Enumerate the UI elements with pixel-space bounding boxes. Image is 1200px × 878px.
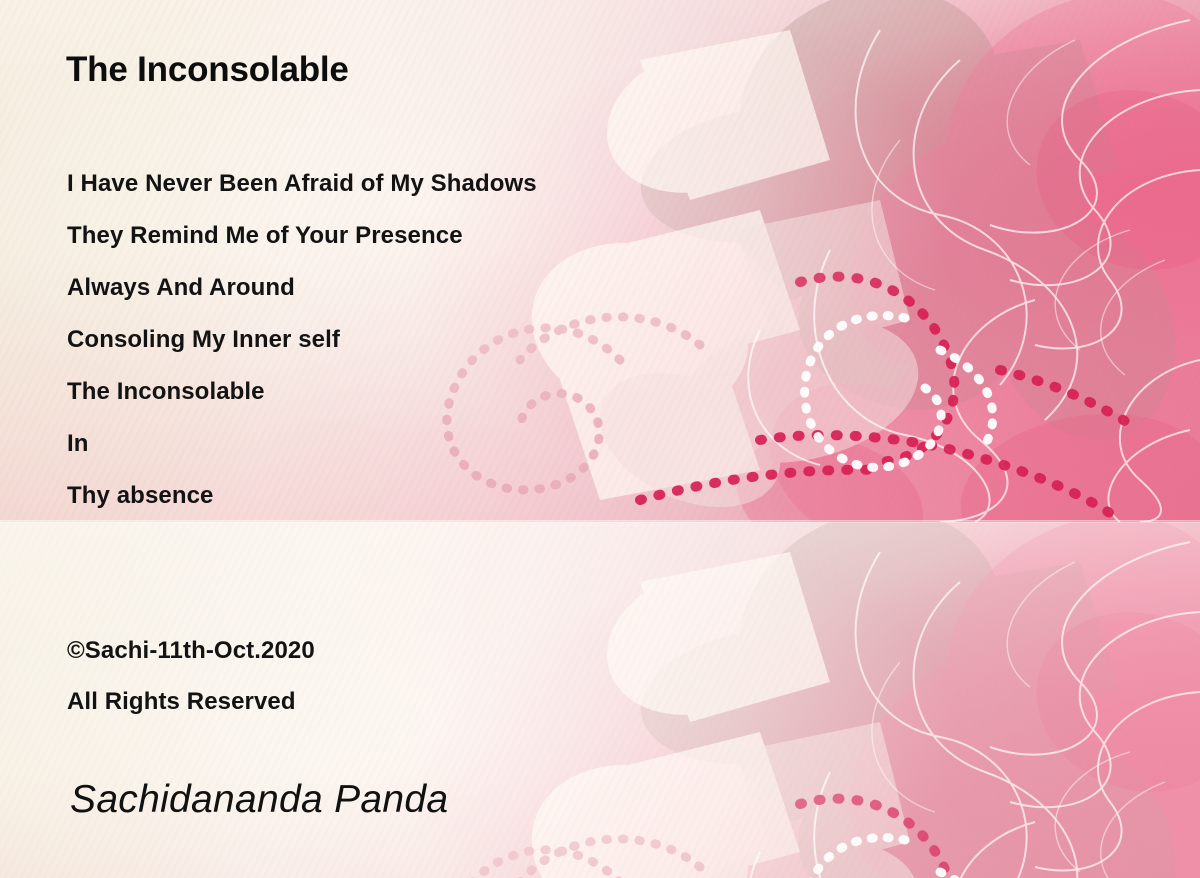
poem-line: I Have Never Been Afraid of My Shadows — [67, 158, 537, 210]
poem-title: The Inconsolable — [66, 50, 349, 90]
poem-text-content: The Inconsolable I Have Never Been Afrai… — [0, 0, 1200, 878]
copyright-block: ©Sachi-11th-Oct.2020 All Rights Reserved — [67, 625, 315, 727]
author-signature: Sachidananda Panda — [70, 778, 448, 822]
poem-body: I Have Never Been Afraid of My Shadows T… — [67, 158, 537, 522]
poem-line: They Remind Me of Your Presence — [67, 210, 537, 262]
poem-line: In — [67, 418, 537, 470]
poem-line: Always And Around — [67, 262, 537, 314]
copyright-line: ©Sachi-11th-Oct.2020 — [67, 625, 315, 676]
poem-poster: The Inconsolable I Have Never Been Afrai… — [0, 0, 1200, 878]
poem-line: Thy absence — [67, 470, 537, 522]
rights-reserved-line: All Rights Reserved — [67, 676, 315, 727]
poem-line: Consoling My Inner self — [67, 314, 537, 366]
poem-line: The Inconsolable — [67, 366, 537, 418]
